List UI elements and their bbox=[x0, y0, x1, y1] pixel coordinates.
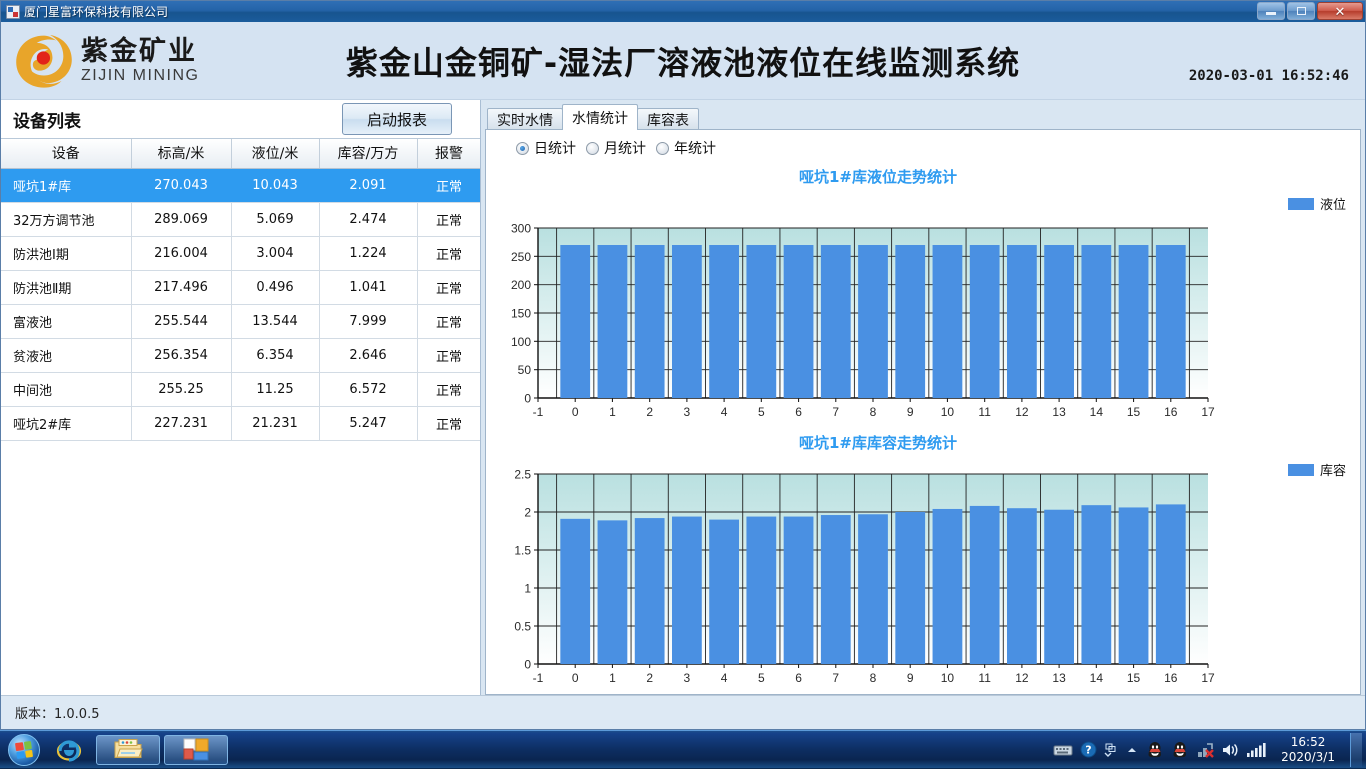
svg-text:0: 0 bbox=[524, 392, 531, 406]
cell-level: 0.496 bbox=[231, 270, 319, 304]
svg-text:150: 150 bbox=[511, 307, 531, 321]
chevron-up-icon[interactable] bbox=[1125, 743, 1139, 757]
table-header-row: 设备 标高/米 液位/米 库容/万方 报警 bbox=[1, 139, 480, 168]
svg-text:8: 8 bbox=[870, 405, 877, 419]
cell-elevation: 289.069 bbox=[131, 202, 231, 236]
svg-text:6: 6 bbox=[795, 671, 802, 685]
tab-strip: 实时水情水情统计库容表 bbox=[485, 104, 1361, 130]
brand-name-en: ZIJIN MINING bbox=[81, 67, 199, 85]
cell-level: 6.354 bbox=[231, 338, 319, 372]
maximize-icon bbox=[1297, 7, 1306, 15]
svg-text:7: 7 bbox=[832, 671, 839, 685]
application-window: 厦门星富环保科技有限公司 ✕ 紫金矿业 ZIJIN MINING 紫金山金铜矿-… bbox=[0, 0, 1366, 730]
legend-swatch-capacity bbox=[1288, 464, 1314, 476]
chart-level-svg: 050100150200250300-101234567891011121314… bbox=[486, 218, 1346, 423]
internet-explorer-icon bbox=[56, 737, 82, 763]
svg-text:13: 13 bbox=[1052, 671, 1066, 685]
svg-text:4: 4 bbox=[721, 405, 728, 419]
close-button[interactable]: ✕ bbox=[1317, 2, 1363, 20]
svg-text:6: 6 bbox=[795, 405, 802, 419]
svg-text:14: 14 bbox=[1090, 671, 1104, 685]
main-body: 设备列表 启动报表 设备 标高/米 液位/米 库容/万方 报警 bbox=[1, 100, 1365, 695]
svg-text:10: 10 bbox=[941, 405, 955, 419]
radio-dot-icon bbox=[516, 142, 529, 155]
svg-text:2: 2 bbox=[646, 405, 653, 419]
chart-capacity-legend: 库容 bbox=[1288, 460, 1346, 479]
brand-text: 紫金矿业 ZIJIN MINING bbox=[81, 37, 199, 85]
svg-text:7: 7 bbox=[832, 405, 839, 419]
start-button[interactable] bbox=[2, 733, 46, 767]
svg-text:9: 9 bbox=[907, 671, 914, 685]
datetime-display: 2020-03-01 16:52:46 bbox=[1189, 68, 1349, 84]
svg-text:1: 1 bbox=[609, 671, 616, 685]
tab-3[interactable]: 库容表 bbox=[637, 108, 699, 130]
legend-swatch-level bbox=[1288, 198, 1314, 210]
cell-capacity: 1.041 bbox=[319, 270, 417, 304]
column-header-device[interactable]: 设备 bbox=[1, 139, 131, 168]
column-header-capacity[interactable]: 库容/万方 bbox=[319, 139, 417, 168]
cell-elevation: 216.004 bbox=[131, 236, 231, 270]
svg-text:-1: -1 bbox=[533, 405, 544, 419]
svg-text:0: 0 bbox=[572, 405, 579, 419]
keyboard-icon[interactable] bbox=[1053, 742, 1073, 758]
cell-device-name: 哑坑2#库 bbox=[1, 406, 131, 440]
minimize-button[interactable] bbox=[1257, 2, 1285, 20]
cell-device-name: 哑坑1#库 bbox=[1, 168, 131, 202]
radio-label: 年统计 bbox=[674, 138, 716, 158]
svg-text:12: 12 bbox=[1015, 405, 1029, 419]
cell-alarm: 正常 bbox=[417, 338, 480, 372]
chart-level-legend: 液位 bbox=[1288, 194, 1346, 213]
svg-text:?: ? bbox=[1085, 744, 1091, 757]
cell-device-name: 防洪池Ⅱ期 bbox=[1, 270, 131, 304]
cell-elevation: 227.231 bbox=[131, 406, 231, 440]
cell-level: 13.544 bbox=[231, 304, 319, 338]
cell-elevation: 255.25 bbox=[131, 372, 231, 406]
svg-text:5: 5 bbox=[758, 405, 765, 419]
cell-capacity: 2.474 bbox=[319, 202, 417, 236]
version-label: 版本：1.0.0.5 bbox=[15, 703, 99, 722]
clock-time: 16:52 bbox=[1281, 735, 1335, 750]
svg-text:3: 3 bbox=[684, 671, 691, 685]
cell-device-name: 中间池 bbox=[1, 372, 131, 406]
cell-alarm: 正常 bbox=[417, 270, 480, 304]
svg-text:15: 15 bbox=[1127, 671, 1141, 685]
chart-capacity-title: 哑坑1#库库容走势统计 bbox=[486, 428, 1360, 453]
svg-text:100: 100 bbox=[511, 335, 531, 349]
svg-text:16: 16 bbox=[1164, 671, 1178, 685]
cell-elevation: 255.544 bbox=[131, 304, 231, 338]
table-row[interactable]: 贫液池256.3546.3542.646正常 bbox=[1, 338, 480, 372]
device-table: 设备 标高/米 液位/米 库容/万方 报警 哑坑1#库270.04310.043… bbox=[1, 139, 480, 441]
cell-capacity: 6.572 bbox=[319, 372, 417, 406]
signal-strength-icon[interactable] bbox=[1246, 742, 1266, 758]
svg-text:11: 11 bbox=[978, 405, 991, 419]
taskbar-clock[interactable]: 16:52 2020/3/1 bbox=[1273, 735, 1343, 765]
quicklaunch-ie[interactable] bbox=[46, 733, 92, 767]
zijin-logo-icon bbox=[13, 32, 75, 90]
device-list-title: 设备列表 bbox=[13, 107, 81, 132]
radio-dot-icon bbox=[586, 142, 599, 155]
cell-alarm: 正常 bbox=[417, 304, 480, 338]
cell-level: 3.004 bbox=[231, 236, 319, 270]
column-header-elevation[interactable]: 标高/米 bbox=[131, 139, 231, 168]
close-icon: ✕ bbox=[1335, 5, 1346, 18]
network-error-icon[interactable] bbox=[1196, 741, 1214, 759]
table-row[interactable]: 防洪池Ⅱ期217.4960.4961.041正常 bbox=[1, 270, 480, 304]
svg-text:4: 4 bbox=[721, 671, 728, 685]
table-row[interactable]: 哑坑2#库227.23121.2315.247正常 bbox=[1, 406, 480, 440]
table-row[interactable]: 富液池255.54413.5447.999正常 bbox=[1, 304, 480, 338]
maximize-button[interactable] bbox=[1287, 2, 1315, 20]
show-desktop-button[interactable] bbox=[1350, 733, 1362, 767]
file-explorer-icon bbox=[113, 737, 143, 763]
svg-text:5: 5 bbox=[758, 671, 765, 685]
cell-capacity: 5.247 bbox=[319, 406, 417, 440]
cell-level: 10.043 bbox=[231, 168, 319, 202]
svg-text:14: 14 bbox=[1090, 405, 1104, 419]
cell-device-name: 32万方调节池 bbox=[1, 202, 131, 236]
cell-alarm: 正常 bbox=[417, 168, 480, 202]
svg-text:12: 12 bbox=[1015, 671, 1029, 685]
svg-text:3: 3 bbox=[684, 405, 691, 419]
chart-capacity-area: 00.511.522.5-101234567891011121314151617 bbox=[486, 464, 1360, 694]
start-report-button[interactable]: 启动报表 bbox=[342, 103, 452, 135]
svg-text:17: 17 bbox=[1201, 405, 1215, 419]
system-tray: ? bbox=[1053, 731, 1366, 769]
svg-text:8: 8 bbox=[870, 671, 877, 685]
svg-text:300: 300 bbox=[511, 222, 531, 236]
svg-text:2: 2 bbox=[524, 506, 531, 520]
svg-text:0: 0 bbox=[572, 671, 579, 685]
cell-device-name: 富液池 bbox=[1, 304, 131, 338]
svg-text:0.5: 0.5 bbox=[514, 620, 531, 634]
svg-text:16: 16 bbox=[1164, 405, 1178, 419]
svg-text:9: 9 bbox=[907, 405, 914, 419]
svg-text:15: 15 bbox=[1127, 405, 1141, 419]
content-panel: 实时水情水情统计库容表 日统计月统计年统计 哑坑1#库液位走势统计 050100… bbox=[481, 100, 1365, 695]
column-header-alarm[interactable]: 报警 bbox=[417, 139, 480, 168]
title-bar: 厦门星富环保科技有限公司 ✕ bbox=[1, 1, 1365, 22]
svg-text:1: 1 bbox=[609, 405, 616, 419]
svg-text:1: 1 bbox=[524, 582, 531, 596]
charts-container: 哑坑1#库液位走势统计 050100150200250300-101234567… bbox=[486, 162, 1360, 694]
radio-label: 日统计 bbox=[534, 138, 576, 158]
cell-alarm: 正常 bbox=[417, 236, 480, 270]
minimize-icon bbox=[1266, 12, 1276, 15]
table-row[interactable]: 哑坑1#库270.04310.0432.091正常 bbox=[1, 168, 480, 202]
window-title: 厦门星富环保科技有限公司 bbox=[24, 6, 168, 18]
page-title: 紫金山金铜矿-湿法厂溶液池液位在线监测系统 bbox=[1, 38, 1365, 84]
tab-1[interactable]: 实时水情 bbox=[487, 108, 563, 130]
chart-level-block: 哑坑1#库液位走势统计 050100150200250300-101234567… bbox=[486, 162, 1360, 428]
tab-page-statistics: 日统计月统计年统计 哑坑1#库液位走势统计 050100150200250300… bbox=[485, 129, 1361, 695]
show-hidden-icons-icon[interactable] bbox=[1104, 742, 1118, 758]
svg-text:2: 2 bbox=[646, 671, 653, 685]
cell-capacity: 2.646 bbox=[319, 338, 417, 372]
svg-text:2.5: 2.5 bbox=[514, 468, 531, 482]
header-banner: 紫金矿业 ZIJIN MINING 紫金山金铜矿-湿法厂溶液池液位在线监测系统 … bbox=[1, 22, 1365, 100]
qq-icon-2[interactable] bbox=[1171, 741, 1189, 759]
svg-text:0: 0 bbox=[524, 658, 531, 672]
status-bar: 版本：1.0.0.5 bbox=[1, 695, 1365, 729]
svg-text:11: 11 bbox=[978, 671, 991, 685]
help-icon[interactable]: ? bbox=[1080, 741, 1097, 758]
legend-label-capacity: 库容 bbox=[1320, 460, 1346, 479]
qq-icon[interactable] bbox=[1146, 741, 1164, 759]
radio-option-1[interactable]: 日统计 bbox=[516, 138, 576, 158]
radio-label: 月统计 bbox=[604, 138, 646, 158]
legend-label-level: 液位 bbox=[1320, 194, 1346, 213]
device-table-body: 哑坑1#库270.04310.0432.091正常32万方调节池289.0695… bbox=[1, 168, 480, 440]
svg-text:50: 50 bbox=[518, 363, 532, 377]
cell-elevation: 256.354 bbox=[131, 338, 231, 372]
app-icon bbox=[6, 5, 20, 19]
chart-capacity-block: 哑坑1#库库容走势统计 00.511.522.5-101234567891011… bbox=[486, 428, 1360, 694]
radio-option-3[interactable]: 年统计 bbox=[656, 138, 716, 158]
clock-date: 2020/3/1 bbox=[1281, 750, 1335, 765]
grid-empty-area bbox=[1, 441, 480, 696]
cell-level: 5.069 bbox=[231, 202, 319, 236]
period-radio-group: 日统计月统计年统计 bbox=[486, 130, 1360, 162]
chart-level-title: 哑坑1#库液位走势统计 bbox=[486, 162, 1360, 187]
chart-level-area: 050100150200250300-101234567891011121314… bbox=[486, 218, 1360, 428]
taskbar-item-application[interactable] bbox=[164, 735, 228, 765]
table-row[interactable]: 32万方调节池289.0695.0692.474正常 bbox=[1, 202, 480, 236]
table-row[interactable]: 中间池255.2511.256.572正常 bbox=[1, 372, 480, 406]
svg-text:200: 200 bbox=[511, 278, 531, 292]
volume-icon[interactable] bbox=[1221, 742, 1239, 758]
cell-alarm: 正常 bbox=[417, 406, 480, 440]
cell-elevation: 217.496 bbox=[131, 270, 231, 304]
svg-text:13: 13 bbox=[1052, 405, 1066, 419]
cell-device-name: 贫液池 bbox=[1, 338, 131, 372]
cell-level: 21.231 bbox=[231, 406, 319, 440]
chart-capacity-svg: 00.511.522.5-101234567891011121314151617 bbox=[486, 464, 1346, 689]
brand-name-cn: 紫金矿业 bbox=[81, 37, 199, 67]
cell-level: 11.25 bbox=[231, 372, 319, 406]
cell-alarm: 正常 bbox=[417, 372, 480, 406]
cell-device-name: 防洪池Ⅰ期 bbox=[1, 236, 131, 270]
device-list-header: 设备列表 启动报表 bbox=[1, 100, 480, 138]
cell-alarm: 正常 bbox=[417, 202, 480, 236]
table-row[interactable]: 防洪池Ⅰ期216.0043.0041.224正常 bbox=[1, 236, 480, 270]
taskbar-item-explorer[interactable] bbox=[96, 735, 160, 765]
svg-text:10: 10 bbox=[941, 671, 955, 685]
svg-text:17: 17 bbox=[1201, 671, 1215, 685]
start-orb-icon bbox=[8, 734, 40, 766]
cell-capacity: 7.999 bbox=[319, 304, 417, 338]
windows-flag-icon bbox=[15, 740, 33, 758]
svg-text:1.5: 1.5 bbox=[514, 544, 531, 558]
svg-text:-1: -1 bbox=[533, 671, 544, 685]
windows-taskbar: ? bbox=[0, 730, 1366, 768]
svg-text:250: 250 bbox=[511, 250, 531, 264]
cell-capacity: 1.224 bbox=[319, 236, 417, 270]
device-grid-scroll[interactable]: 设备 标高/米 液位/米 库容/万方 报警 哑坑1#库270.04310.043… bbox=[1, 138, 480, 695]
window-controls: ✕ bbox=[1257, 2, 1363, 20]
cell-elevation: 270.043 bbox=[131, 168, 231, 202]
radio-dot-icon bbox=[656, 142, 669, 155]
radio-option-2[interactable]: 月统计 bbox=[586, 138, 646, 158]
tab-2[interactable]: 水情统计 bbox=[562, 104, 638, 130]
application-icon bbox=[182, 737, 210, 763]
cell-capacity: 2.091 bbox=[319, 168, 417, 202]
brand-logo: 紫金矿业 ZIJIN MINING bbox=[1, 32, 199, 90]
device-list-panel: 设备列表 启动报表 设备 标高/米 液位/米 库容/万方 报警 bbox=[1, 100, 481, 695]
column-header-level[interactable]: 液位/米 bbox=[231, 139, 319, 168]
